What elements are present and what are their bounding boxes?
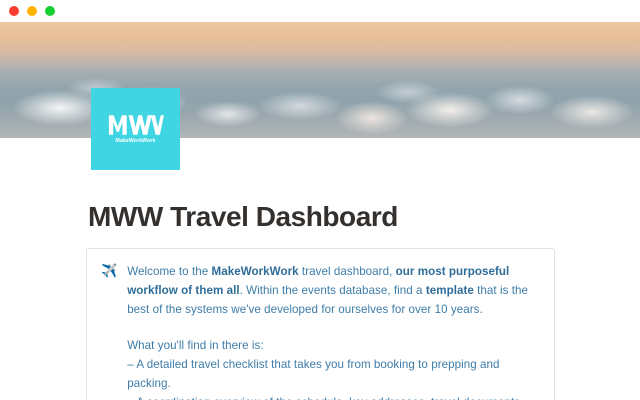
traffic-light-group [9, 6, 55, 16]
airplane-icon: ✈️ [101, 262, 117, 400]
app-window: MakeWorkWork MWW Travel Dashboard ✈️ Wel… [0, 0, 640, 400]
callout-p2-line3: – A coordination overview of the schedul… [127, 393, 538, 400]
callout-p1-brand: MakeWorkWork [212, 265, 299, 278]
minimize-window-button[interactable] [27, 6, 37, 16]
window-titlebar [0, 0, 640, 22]
welcome-callout[interactable]: ✈️ Welcome to the MakeWorkWork travel da… [86, 248, 555, 400]
callout-p2-line1: What you'll find in there is: [127, 336, 538, 355]
page-icon-logo[interactable]: MakeWorkWork [91, 88, 180, 170]
callout-p1-seg3: travel dashboard, [299, 265, 396, 278]
page-content: MWW Travel Dashboard ✈️ Welcome to the M… [0, 138, 640, 400]
callout-paragraph-2: What you'll find in there is: – A detail… [127, 336, 538, 400]
page-title: MWW Travel Dashboard [88, 202, 398, 233]
callout-p1-seg1: Welcome to the [127, 265, 211, 278]
mww-logo-icon [108, 114, 164, 136]
callout-text-body: Welcome to the MakeWorkWork travel dashb… [127, 262, 538, 400]
callout-p1-seg5: . Within the events database, find a [240, 284, 426, 297]
callout-p2-line2: – A detailed travel checklist that takes… [127, 355, 538, 393]
callout-p1-template: template [426, 284, 474, 297]
logo-wordmark: MakeWorkWork [116, 139, 156, 144]
callout-paragraph-1: Welcome to the MakeWorkWork travel dashb… [127, 262, 538, 319]
close-window-button[interactable] [9, 6, 19, 16]
maximize-window-button[interactable] [45, 6, 55, 16]
